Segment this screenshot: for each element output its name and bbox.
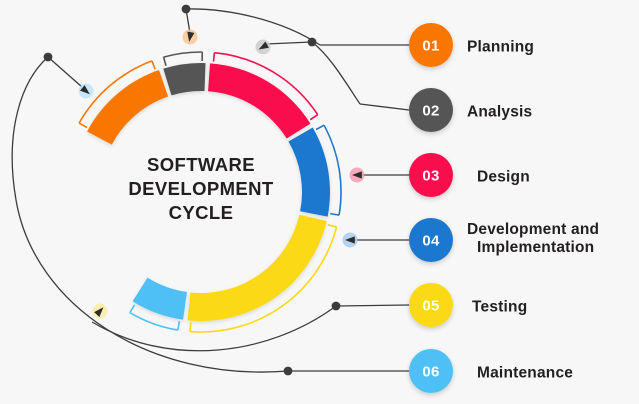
center-title-line2: DEVELOPMENT bbox=[128, 178, 274, 199]
planning-arrow bbox=[183, 30, 198, 45]
testing-arrow bbox=[93, 304, 108, 319]
development-arrow bbox=[343, 233, 358, 248]
legend-label-testing: Testing bbox=[472, 299, 527, 316]
legend-label-design: Design bbox=[477, 169, 530, 186]
legend-label-planning: Planning bbox=[467, 39, 534, 56]
legend-item-analysis[interactable]: 02Analysis bbox=[409, 88, 532, 132]
legend-number-maintenance: 06 bbox=[422, 364, 439, 381]
legend-label-development: Development and bbox=[467, 221, 599, 238]
donut-segment-design[interactable] bbox=[208, 63, 310, 138]
donut-segment-analysis[interactable] bbox=[163, 63, 205, 95]
maintenance-arrow bbox=[79, 84, 94, 99]
analysis-arrow bbox=[256, 40, 271, 55]
legend-label-maintenance: Maintenance bbox=[477, 365, 573, 382]
testing-leader-line bbox=[336, 305, 409, 306]
center-title-line1: SOFTWARE bbox=[147, 154, 255, 175]
donut-segment-maintenance[interactable] bbox=[133, 278, 187, 320]
legend-item-maintenance[interactable]: 06Maintenance bbox=[409, 349, 573, 393]
center-title: SOFTWARE DEVELOPMENT CYCLE bbox=[128, 154, 274, 223]
legend-item-testing[interactable]: 05Testing bbox=[409, 283, 527, 327]
diagram-stage: SOFTWARE DEVELOPMENT CYCLE 01Planning02A… bbox=[0, 0, 639, 404]
center-title-line3: CYCLE bbox=[169, 202, 234, 223]
analysis-leader-line bbox=[360, 104, 409, 110]
software-development-cycle-diagram: SOFTWARE DEVELOPMENT CYCLE 01Planning02A… bbox=[0, 0, 639, 404]
legend-item-development[interactable]: 04Development andImplementation bbox=[409, 218, 599, 262]
legend: 01Planning02Analysis03Design04Developmen… bbox=[409, 23, 599, 393]
legend-label-development-line2: Implementation bbox=[477, 239, 594, 256]
legend-label-analysis: Analysis bbox=[467, 104, 532, 121]
legend-number-analysis: 02 bbox=[422, 103, 439, 120]
legend-item-planning[interactable]: 01Planning bbox=[409, 23, 534, 67]
analysis-curve bbox=[312, 42, 360, 104]
legend-number-development: 04 bbox=[422, 233, 440, 250]
analysis-stem bbox=[266, 42, 312, 44]
planning-curve bbox=[186, 9, 320, 45]
design-arrow bbox=[350, 168, 365, 183]
legend-number-design: 03 bbox=[422, 168, 439, 185]
donut-segment-development[interactable] bbox=[288, 128, 330, 217]
legend-number-planning: 01 bbox=[422, 38, 439, 55]
legend-item-design[interactable]: 03Design bbox=[409, 153, 530, 197]
donut-segment-testing[interactable] bbox=[188, 215, 327, 321]
donut-segment-planning[interactable] bbox=[87, 70, 168, 145]
maintenance-stem bbox=[48, 57, 82, 87]
legend-number-testing: 05 bbox=[422, 298, 439, 315]
